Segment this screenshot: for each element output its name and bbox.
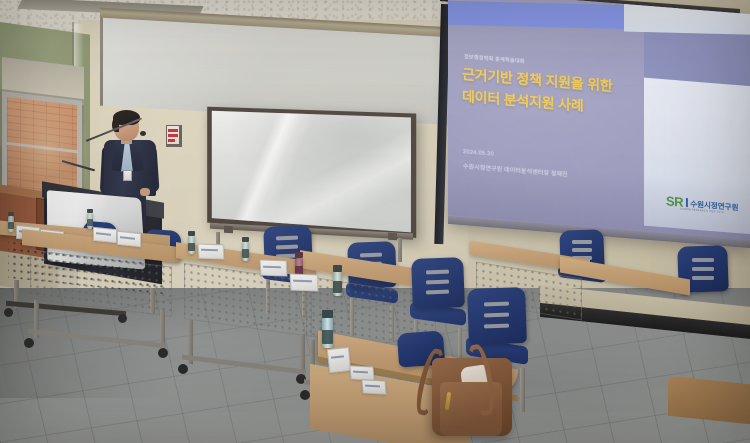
name-card <box>361 379 386 394</box>
bottle-label <box>188 243 195 251</box>
chair-back-slot <box>692 258 714 262</box>
whiteboard-bracket <box>224 226 233 233</box>
table-caster <box>4 308 13 317</box>
table-caster <box>118 314 127 323</box>
microphone-head <box>140 131 146 136</box>
seminar-room-photo: 정보행정학회 춘계학술대회 근거기반 정책 지원을 위한 데이터 분석지원 사례… <box>0 0 750 443</box>
bottle-cap <box>87 209 93 213</box>
presenter-name-badge <box>123 170 132 181</box>
bottle-label <box>322 330 333 344</box>
bottle-cap <box>322 310 333 318</box>
bottle-cap <box>242 237 249 242</box>
table-caster <box>158 348 168 358</box>
table-caster <box>300 390 310 400</box>
bottle-cap <box>8 212 14 216</box>
slide-accent-bar <box>448 1 624 29</box>
bottle-label <box>8 222 14 229</box>
name-card <box>327 347 351 373</box>
presenter-hand <box>140 188 150 196</box>
chair-leg <box>520 368 525 412</box>
bottle-cap <box>333 265 342 272</box>
sign-line-icon <box>168 139 175 142</box>
name-card <box>260 260 288 277</box>
chair-back-slot <box>276 236 298 241</box>
table-top-right <box>668 376 750 425</box>
bottle-label <box>333 281 342 293</box>
chair-back-slot <box>572 248 592 252</box>
slide-left-shade <box>448 10 644 231</box>
whiteboard-leg <box>398 238 402 262</box>
name-card <box>198 244 225 260</box>
chair-back-slot <box>572 240 592 244</box>
chair-back-slot <box>426 280 449 285</box>
chair-back-slot <box>426 270 449 275</box>
presentation-slide: 정보행정학회 춘계학술대회 근거기반 정책 지원을 위한 데이터 분석지원 사례… <box>448 0 750 248</box>
name-card <box>117 231 141 248</box>
chair-back-slot <box>692 276 714 280</box>
bottle-label <box>87 219 93 226</box>
sign-line-icon <box>168 134 178 137</box>
whiteboard-glare <box>212 111 411 233</box>
sign-line-icon <box>168 129 178 132</box>
bottle-label <box>242 249 249 258</box>
name-card <box>290 273 319 291</box>
table-caster <box>178 364 188 374</box>
whiteboard-bracket <box>388 233 397 240</box>
bottle-cap <box>188 231 195 236</box>
chair-back-slot <box>692 267 714 271</box>
projection-screen: 정보행정학회 춘계학술대회 근거기반 정책 지원을 위한 데이터 분석지원 사례… <box>448 0 750 248</box>
chair-back-slot <box>276 245 298 250</box>
table-caster <box>24 338 34 348</box>
name-card <box>93 227 117 244</box>
bottle-cap <box>295 252 303 258</box>
chair-back-slot <box>426 290 449 295</box>
chair-back-slot <box>360 253 382 258</box>
